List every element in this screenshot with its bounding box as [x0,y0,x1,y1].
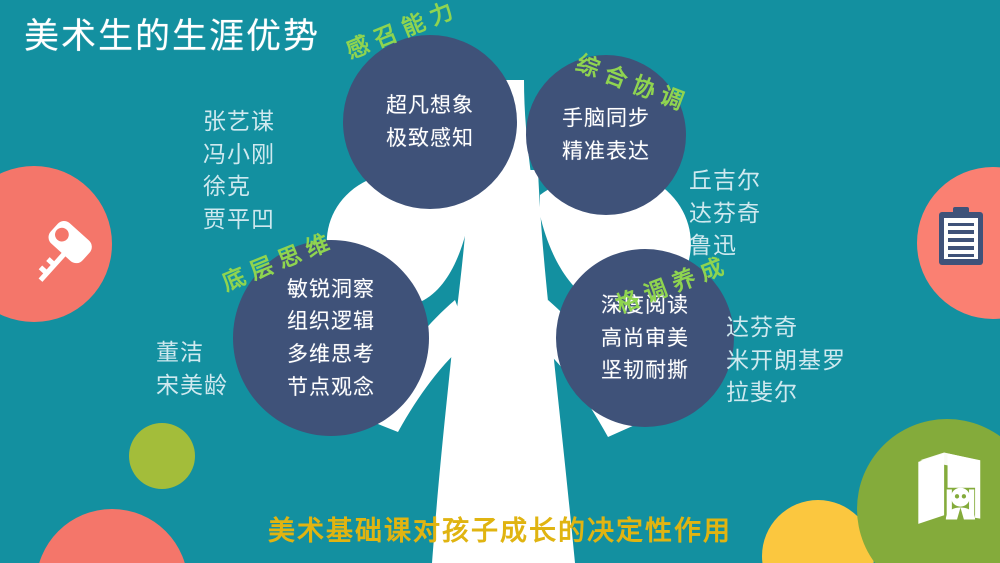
bubble-line: 手脑同步 [562,102,650,135]
list-item: 米开朗基罗 [726,345,846,378]
list-item: 董洁 [156,337,228,370]
name-list-directors: 张艺谋 冯小刚 徐克 贾平凹 [203,106,275,237]
bubble-imagination: 超凡想象 极致感知 [343,35,517,209]
name-list-thinkers: 丘吉尔 达芬奇 鲁迅 [689,165,761,263]
list-item: 冯小刚 [203,139,275,172]
list-item: 达芬奇 [689,198,761,231]
list-item: 贾平凹 [203,204,275,237]
list-item: 拉斐尔 [726,377,846,410]
list-item: 张艺谋 [203,106,275,139]
bubble-line: 坚韧耐撕 [601,354,689,387]
list-item: 宋美龄 [156,370,228,403]
list-item: 丘吉尔 [689,165,761,198]
bubble-line: 极致感知 [386,122,474,155]
bubble-line: 精准表达 [562,135,650,168]
bubble-line: 高尚审美 [601,322,689,355]
bubble-line: 超凡想象 [386,89,474,122]
bubble-line: 节点观念 [287,371,375,404]
footer-text: 美术基础课对孩子成长的决定性作用 [0,509,1000,548]
page-title: 美术生的生涯优势 [24,8,320,59]
list-item: 鲁迅 [689,230,761,263]
bubble-line: 敏锐洞察 [287,273,375,306]
bubble-line: 组织逻辑 [287,305,375,338]
bubble-line: 多维思考 [287,338,375,371]
infographic-canvas: 超凡想象 极致感知 手脑同步 精准表达 敏锐洞察 组织逻辑 多维思考 节点观念 … [0,0,1000,563]
name-list-actresses: 董洁 宋美龄 [156,337,228,402]
list-item: 徐克 [203,171,275,204]
name-list-artists: 达芬奇 米开朗基罗 拉斐尔 [726,312,846,410]
list-item: 达芬奇 [726,312,846,345]
